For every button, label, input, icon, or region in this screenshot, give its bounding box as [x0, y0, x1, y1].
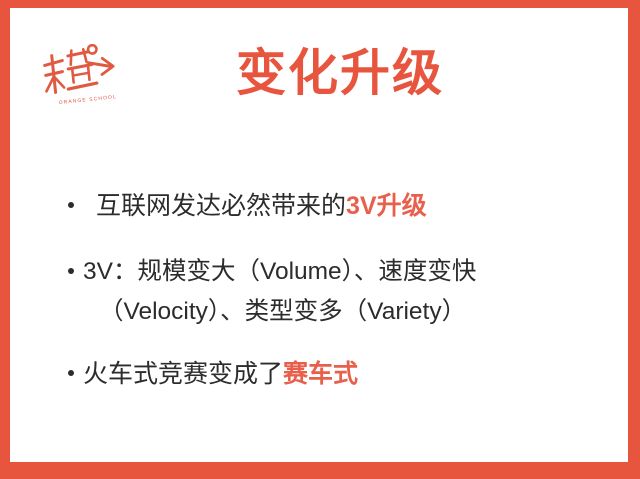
slide-canvas: ORANGE SCHOOL 变化升级 互联网发达必然带来的3V升级 3V：规模变… — [10, 8, 628, 462]
frame-border-right — [628, 0, 640, 479]
bullet-text-line1: 3V：规模变大（Volume）、速度变快 — [83, 258, 476, 285]
bullet-text: 3V：规模变大（Volume）、速度变快（Velocity）、类型变多（Vari… — [83, 252, 608, 332]
orange-school-logo: ORANGE SCHOOL — [38, 44, 118, 108]
list-item: 火车式竞赛变成了赛车式 — [68, 354, 608, 394]
bullet-dot-icon — [68, 370, 74, 376]
bullet-dot-icon — [68, 202, 74, 208]
orange-school-logo-icon: ORANGE SCHOOL — [38, 44, 118, 108]
frame-border-left — [0, 0, 10, 479]
page-title: 变化升级 — [210, 42, 470, 104]
bullet-text-highlight: 赛车式 — [283, 360, 358, 388]
presentation-slide: ORANGE SCHOOL 变化升级 互联网发达必然带来的3V升级 3V：规模变… — [0, 0, 640, 479]
bullet-text-plain: 互联网发达必然带来的 — [96, 192, 346, 220]
bullet-list: 互联网发达必然带来的3V升级 3V：规模变大（Volume）、速度变快（Velo… — [68, 186, 608, 394]
logo-subtext: ORANGE SCHOOL — [58, 94, 117, 106]
bullet-text-plain: 火车式竞赛变成了 — [83, 360, 283, 388]
bullet-text-highlight: 3V升级 — [346, 192, 427, 220]
list-item: 互联网发达必然带来的3V升级 — [68, 186, 608, 226]
frame-border-bottom — [0, 462, 640, 479]
bullet-text-line2: （Velocity）、类型变多（Variety） — [83, 292, 608, 332]
bullet-dot-icon — [68, 268, 74, 274]
frame-border-top — [0, 0, 640, 8]
bullet-text: 互联网发达必然带来的3V升级 — [96, 186, 608, 226]
list-item: 3V：规模变大（Volume）、速度变快（Velocity）、类型变多（Vari… — [68, 252, 608, 332]
bullet-text: 火车式竞赛变成了赛车式 — [83, 354, 608, 394]
